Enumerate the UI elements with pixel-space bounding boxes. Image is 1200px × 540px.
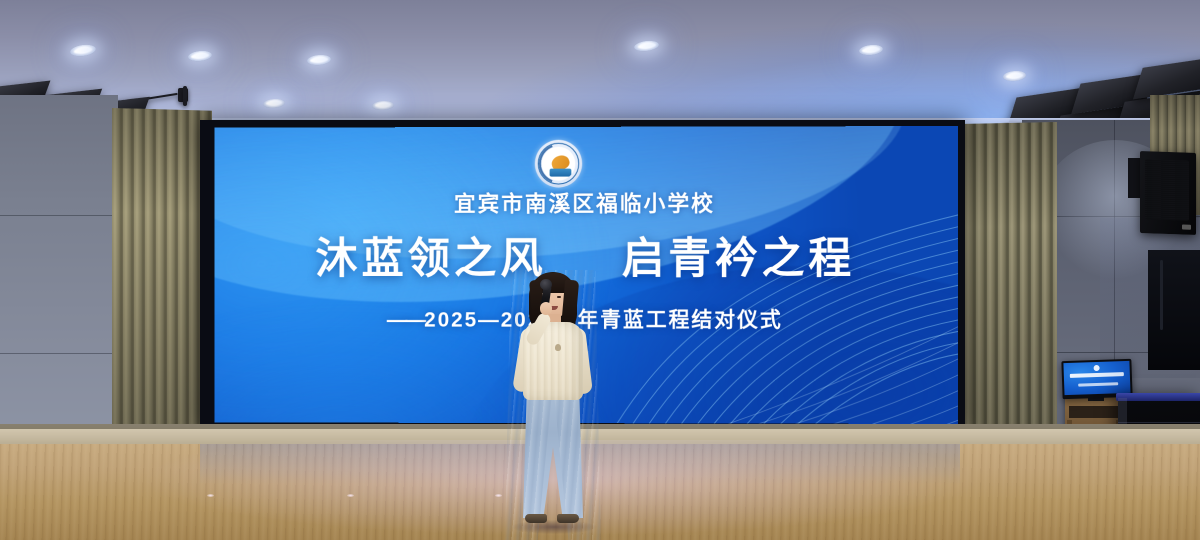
floor-light-sparkle — [495, 494, 502, 497]
stand-shelf — [1069, 406, 1119, 418]
monitor-headline-line — [1070, 372, 1124, 378]
floor-light-sparkle — [347, 494, 354, 497]
left-wall-panel — [0, 95, 118, 455]
presenter-hand — [540, 302, 552, 315]
monitor-subline-line — [1078, 382, 1118, 386]
monitor-emblem-icon — [1094, 365, 1100, 371]
speaker-grill — [1145, 159, 1189, 221]
microphone-head-icon — [540, 279, 552, 290]
wood-slat-wall-right — [965, 122, 1057, 469]
equipment-cable — [1160, 260, 1163, 330]
speaker-logo — [1182, 224, 1191, 229]
wood-slat-wall-left — [112, 108, 212, 456]
wall-speaker — [1140, 151, 1196, 235]
subline-dash: —— — [387, 309, 424, 332]
console-seam — [1118, 422, 1200, 423]
presenter-shoe-right — [557, 514, 579, 523]
sweater-chest-emblem — [555, 344, 561, 351]
presenter-shoe-left — [525, 514, 547, 523]
headline-right: 启青衿之程 — [622, 235, 855, 283]
ceiling-mounted-device — [183, 86, 187, 106]
presenter — [505, 270, 601, 540]
floor-light-sparkle — [207, 494, 214, 497]
auditorium-photo: 宜宾市南溪区福临小学校 沐蓝领之风 启青衿之程 ——2025—2026学年青蓝工… — [0, 0, 1200, 540]
monitor-screen — [1063, 361, 1130, 395]
presenter-eye-right — [557, 296, 561, 298]
console-lit-top-edge — [1116, 393, 1200, 401]
slide-school-name: 宜宾市南溪区福临小学校 — [215, 186, 958, 219]
stage-light-wash — [120, 440, 1100, 540]
rack-equipment — [1148, 250, 1200, 370]
